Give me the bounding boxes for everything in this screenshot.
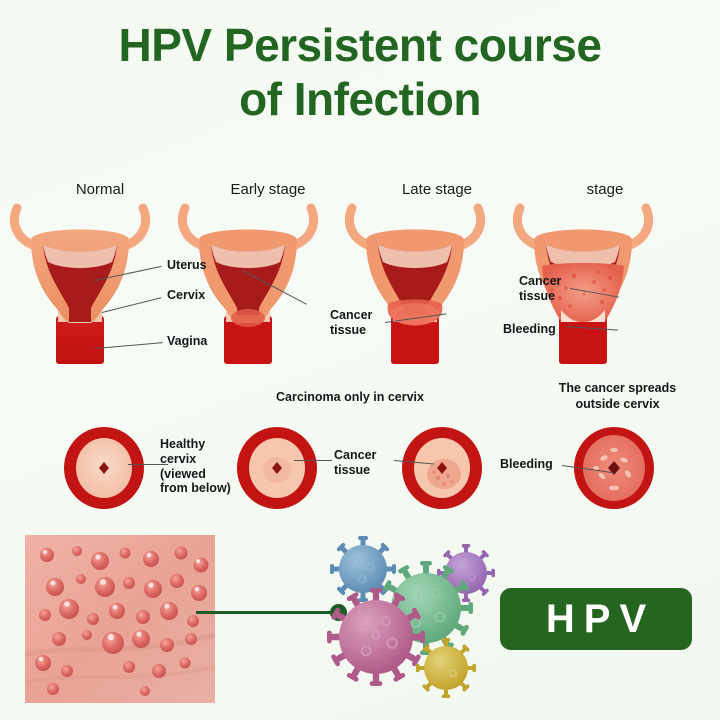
stage-label-early: Early stage [183, 181, 353, 198]
cervix-circle-healthy [62, 426, 146, 510]
label-cancer-tissue-center: Cancer tissue [330, 308, 400, 338]
label-cervix: Cervix [167, 288, 205, 303]
label-bleeding-advanced: Bleeding [503, 322, 573, 337]
hpv-lesion-photo [25, 535, 215, 703]
label-cancer-tissue-advanced: Cancer tissue [519, 274, 579, 304]
stage-label-normal: Normal [15, 181, 185, 198]
connector-line-icon [196, 611, 336, 614]
label-bleeding-cervix: Bleeding [500, 457, 562, 472]
stage-label-final: stage [520, 181, 690, 198]
yellow-virus [416, 638, 476, 698]
cervix-circle-early [235, 426, 319, 510]
virus-particles-icon [318, 533, 498, 698]
label-cancer-tissue-cervix: Cancer tissue [334, 448, 392, 478]
caption-late-stage: The cancer spreads outside cervix [525, 381, 710, 412]
uterus-diagram-normal [0, 200, 165, 365]
blue-virus [330, 536, 396, 602]
page-title: HPV Persistent course of Infection [0, 18, 720, 127]
hpv-badge: HPV [500, 588, 692, 650]
label-uterus: Uterus [167, 258, 207, 273]
uterus-diagram-late [330, 200, 500, 365]
title-line-2: of Infection [0, 72, 720, 126]
stage-label-late: Late stage [352, 181, 522, 198]
cervix-circle-late [400, 426, 484, 510]
label-vagina: Vagina [167, 334, 207, 349]
label-healthy-cervix: Healthy cervix (viewed from below) [160, 437, 240, 496]
leader-cancer-cervix [294, 460, 332, 461]
title-line-1: HPV Persistent course [119, 19, 602, 71]
hpv-badge-text: HPV [537, 597, 655, 642]
caption-early-stage: Carcinoma only in cervix [255, 390, 445, 406]
